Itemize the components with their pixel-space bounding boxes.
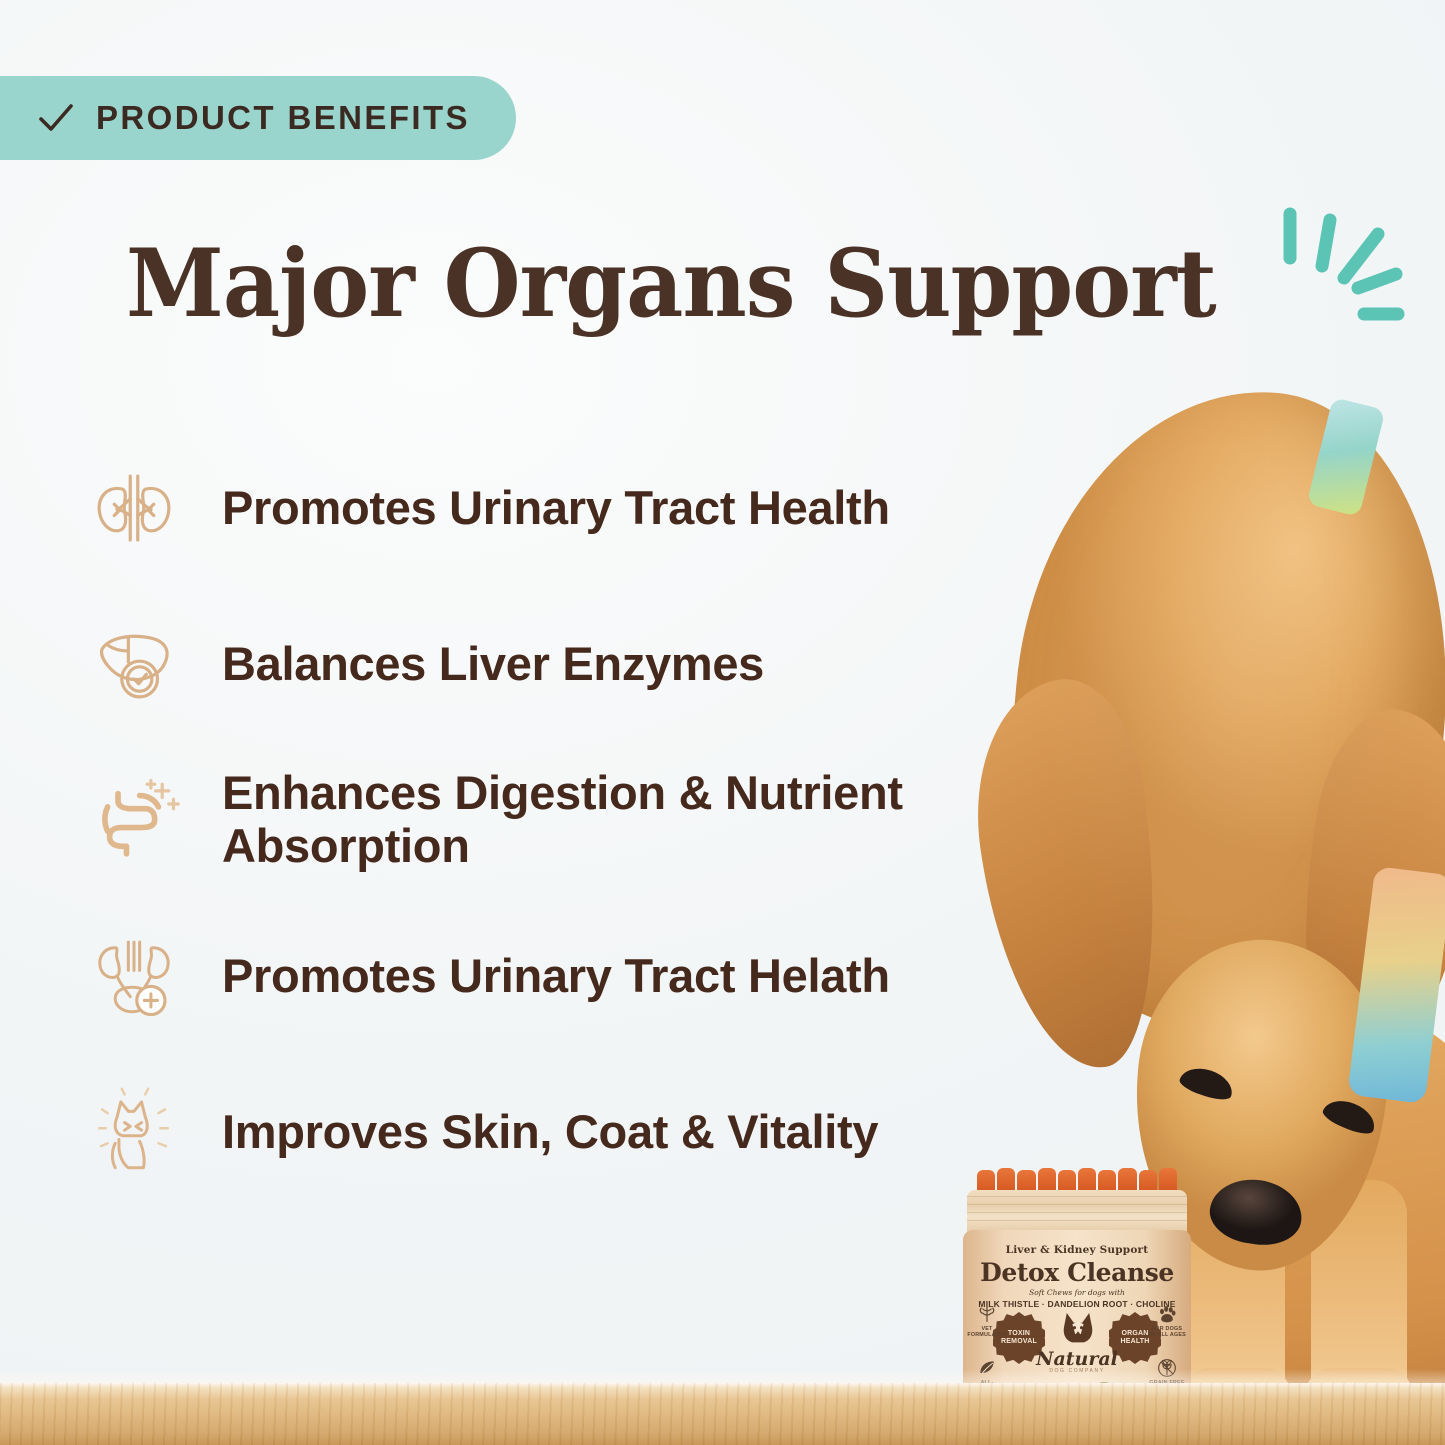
urinary-cross-icon: [78, 920, 190, 1032]
check-icon: [36, 98, 76, 138]
dog-bandana-side: [1347, 866, 1445, 1104]
vet-formulated-badge: VETFORMULATED: [965, 1304, 1009, 1339]
benefit-label: Promotes Urinary Tract Health: [222, 482, 890, 535]
label-chews-line: Soft Chews for dogs with: [963, 1288, 1191, 1297]
dog-body: [1155, 1020, 1445, 1410]
label-title: Detox Cleanse: [963, 1258, 1191, 1287]
benefit-label: Balances Liver Enzymes: [222, 638, 764, 691]
dog-ear-right: [1277, 700, 1445, 1090]
paw-icon: [1145, 1304, 1189, 1324]
benefit-label: Promotes Urinary Tract Helath: [222, 950, 890, 1003]
wooden-shelf: [0, 1383, 1445, 1445]
dog-shine-icon: [78, 1076, 190, 1188]
benefit-item: Balances Liver Enzymes: [78, 608, 1058, 720]
label-subtitle: Liver & Kidney Support: [963, 1244, 1191, 1256]
jar-lid: [967, 1190, 1187, 1234]
sparkle-burst-icon: [1268, 196, 1445, 336]
benefit-item: Enhances Digestion & Nutrient Absorption: [78, 764, 1058, 876]
intestines-sparkle-icon: [78, 764, 190, 876]
dog-eye-right: [1320, 1094, 1380, 1138]
product-benefits-infographic: PRODUCT BENEFITS Major Organs Support: [0, 0, 1445, 1445]
dog-eye-left: [1177, 1062, 1236, 1103]
caduceus-icon: [965, 1304, 1009, 1324]
product-benefits-label: PRODUCT BENEFITS: [96, 99, 470, 137]
page-title: Major Organs Support: [126, 236, 1216, 334]
benefit-label: Improves Skin, Coat & Vitality: [222, 1106, 878, 1159]
benefit-item: Promotes Urinary Tract Helath: [78, 920, 1058, 1032]
benefit-label: Enhances Digestion & Nutrient Absorption: [222, 767, 1058, 872]
kidneys-icon: [78, 452, 190, 564]
benefit-item: Promotes Urinary Tract Health: [78, 452, 1058, 564]
dog-bandana-top: [1306, 397, 1385, 517]
all-ages-badge: FOR DOGSOF ALL AGES: [1145, 1304, 1189, 1339]
benefits-list: Promotes Urinary Tract Health Balances L…: [78, 452, 1058, 1188]
brand-dog-logo-icon: [1057, 1306, 1099, 1348]
dog-nose: [1206, 1174, 1306, 1250]
liver-check-icon: [78, 608, 190, 720]
product-benefits-tag: PRODUCT BENEFITS: [0, 76, 516, 160]
benefit-item: Improves Skin, Coat & Vitality: [78, 1076, 1058, 1188]
